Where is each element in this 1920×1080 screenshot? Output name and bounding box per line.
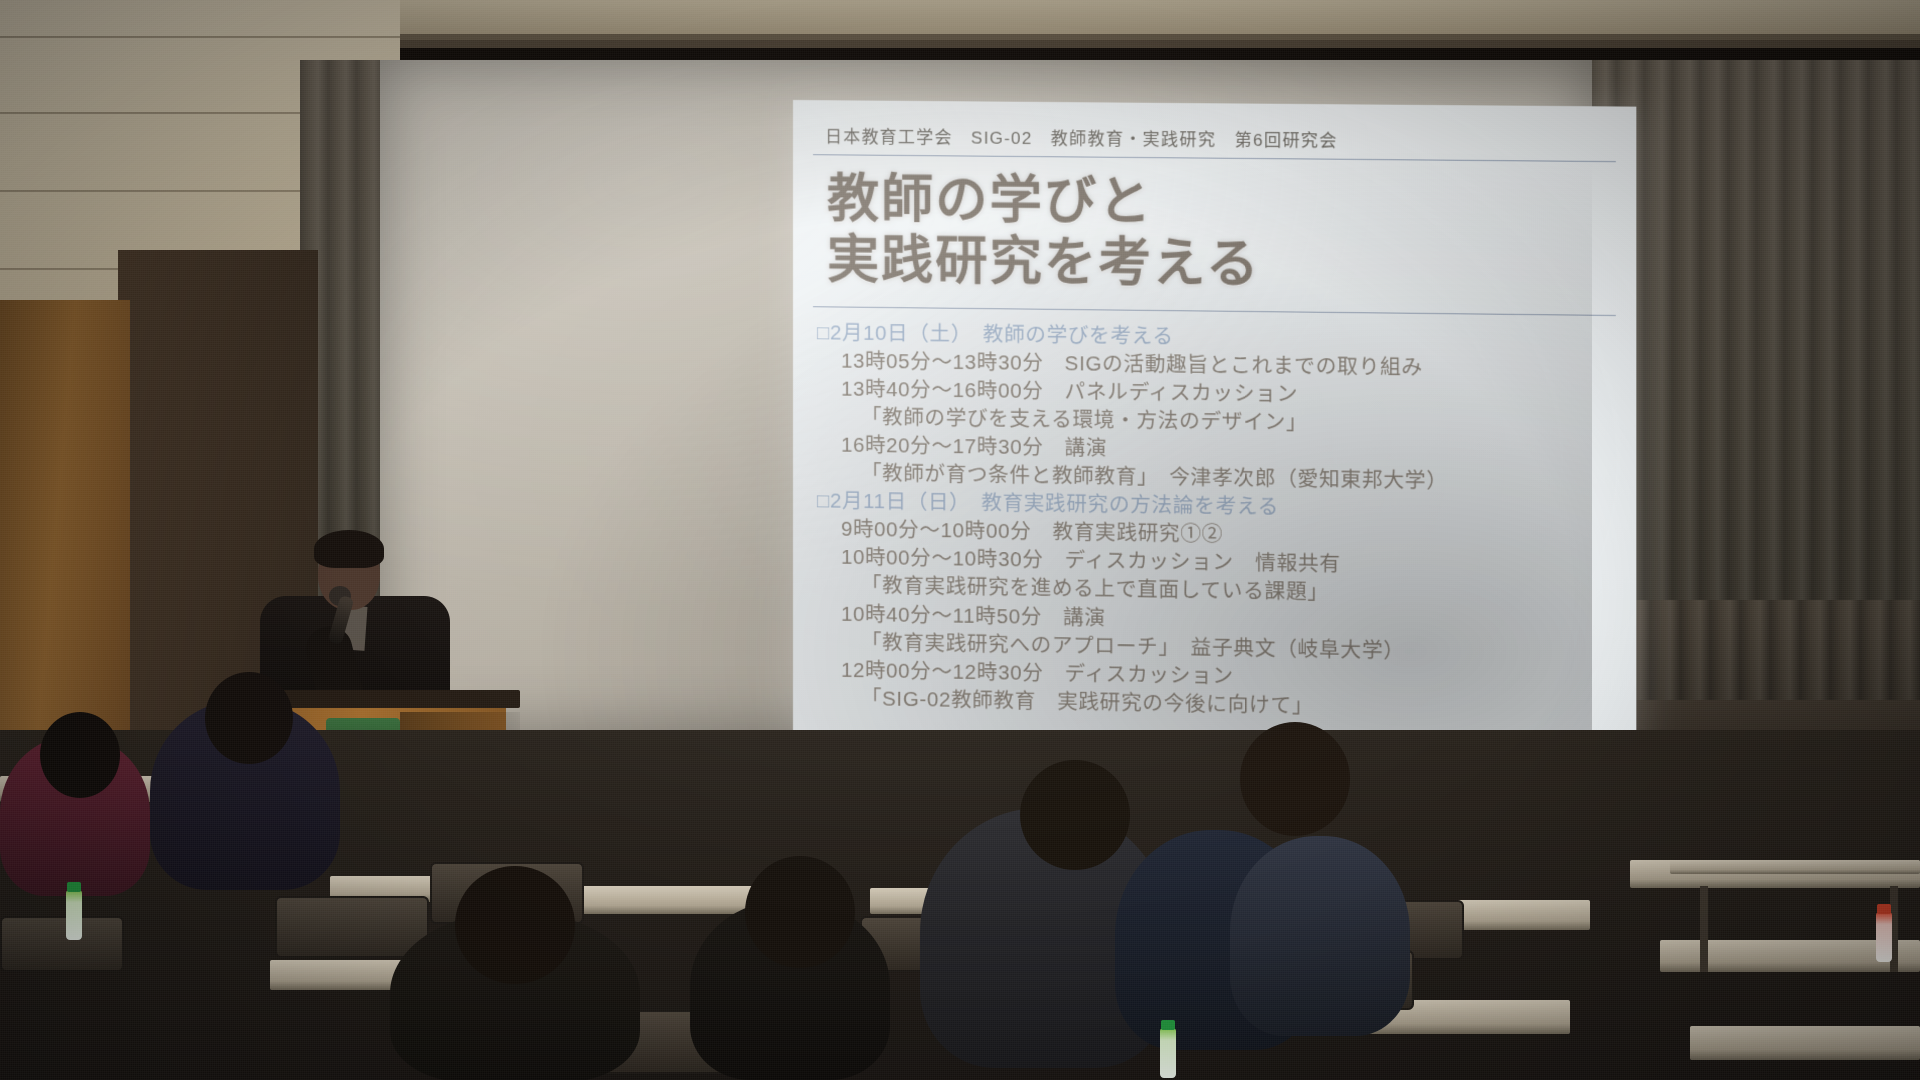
water-bottle	[1160, 1028, 1176, 1078]
chair	[0, 916, 124, 972]
water-bottle	[1876, 912, 1892, 962]
lecture-hall-photo: 日本教育工学会 SIG-02 教師教育・実践研究 第6回研究会 教師の学びと 実…	[0, 0, 1920, 1080]
water-bottle-cap	[1877, 904, 1891, 914]
audience-member-head	[1020, 760, 1130, 870]
slide-title: 教師の学びと 実践研究を考える	[809, 155, 1620, 300]
water-bottle-cap	[1161, 1020, 1175, 1030]
chair	[275, 896, 429, 958]
water-bottle-cap	[67, 882, 81, 892]
audience-member	[1230, 836, 1410, 1036]
left-wood-wall	[0, 300, 130, 740]
audience-member-head	[1240, 722, 1350, 836]
audience-member-head	[205, 672, 293, 764]
slide-title-line-1: 教師の学びと	[827, 169, 1620, 238]
audience-member-head	[745, 856, 855, 968]
slide-agenda-list: □2月10日（土） 教師の学びを考える 13時05分〜13時30分 SIGの活動…	[809, 307, 1620, 726]
speaker-hair	[314, 530, 384, 568]
desk	[1690, 1026, 1920, 1060]
desk-leg	[1700, 886, 1708, 972]
slide-header-text: 日本教育工学会 SIG-02 教師教育・実践研究 第6回研究会	[809, 112, 1620, 154]
slide-title-line-2: 実践研究を考える	[827, 231, 1620, 301]
desk	[1670, 860, 1920, 874]
audience-member-head	[455, 866, 575, 984]
presentation-slide: 日本教育工学会 SIG-02 教師教育・実践研究 第6回研究会 教師の学びと 実…	[793, 100, 1636, 759]
speaker-presenter	[268, 530, 443, 710]
water-bottle	[66, 890, 82, 940]
audience-member-head	[40, 712, 120, 798]
